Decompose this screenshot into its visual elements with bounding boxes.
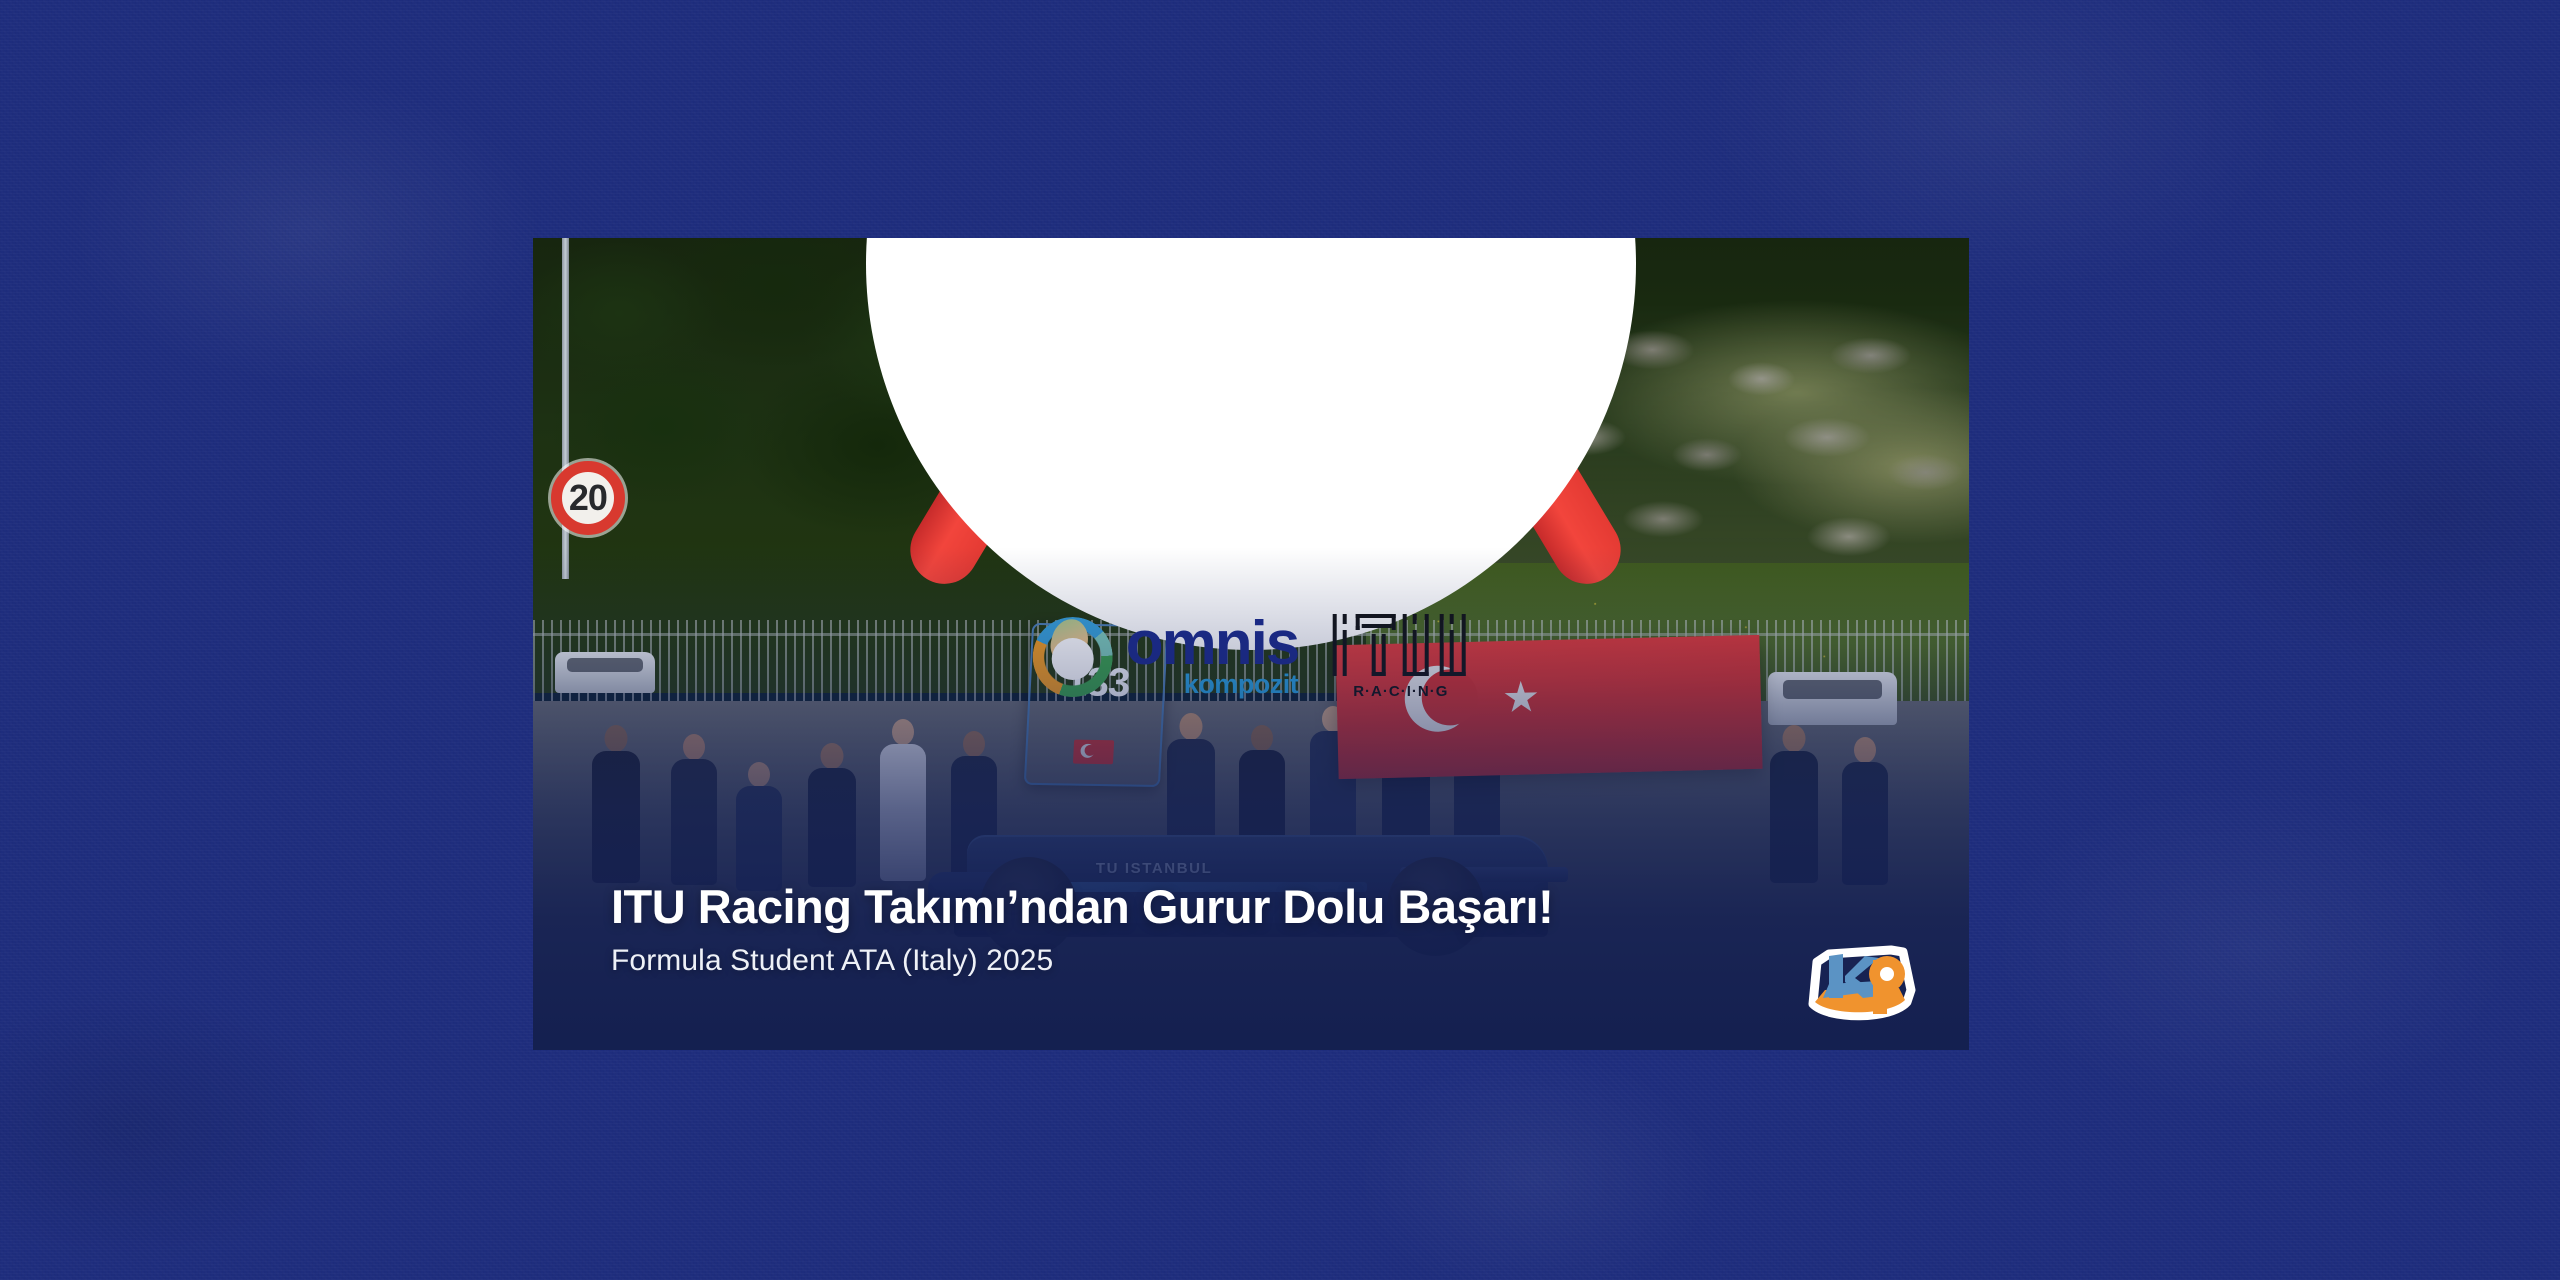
promo-card[interactable]: 20 formula ATA <box>533 238 1969 1050</box>
kp-letter-k-stem <box>1829 954 1843 998</box>
subheadline: Formula Student ATA (Italy) 2025 <box>611 944 1553 978</box>
caption-block: ITU Racing Takımı’ndan Gurur Dolu Başarı… <box>611 882 1553 978</box>
kp-logo[interactable] <box>1799 932 1921 1024</box>
speed-limit-sign: 20 <box>551 461 625 535</box>
page-root: 20 formula ATA <box>0 0 2560 1280</box>
headline: ITU Racing Takımı’ndan Gurur Dolu Başarı… <box>611 882 1553 932</box>
kp-letter-p-counter <box>1880 967 1894 981</box>
speed-limit-value: 20 <box>569 477 607 519</box>
